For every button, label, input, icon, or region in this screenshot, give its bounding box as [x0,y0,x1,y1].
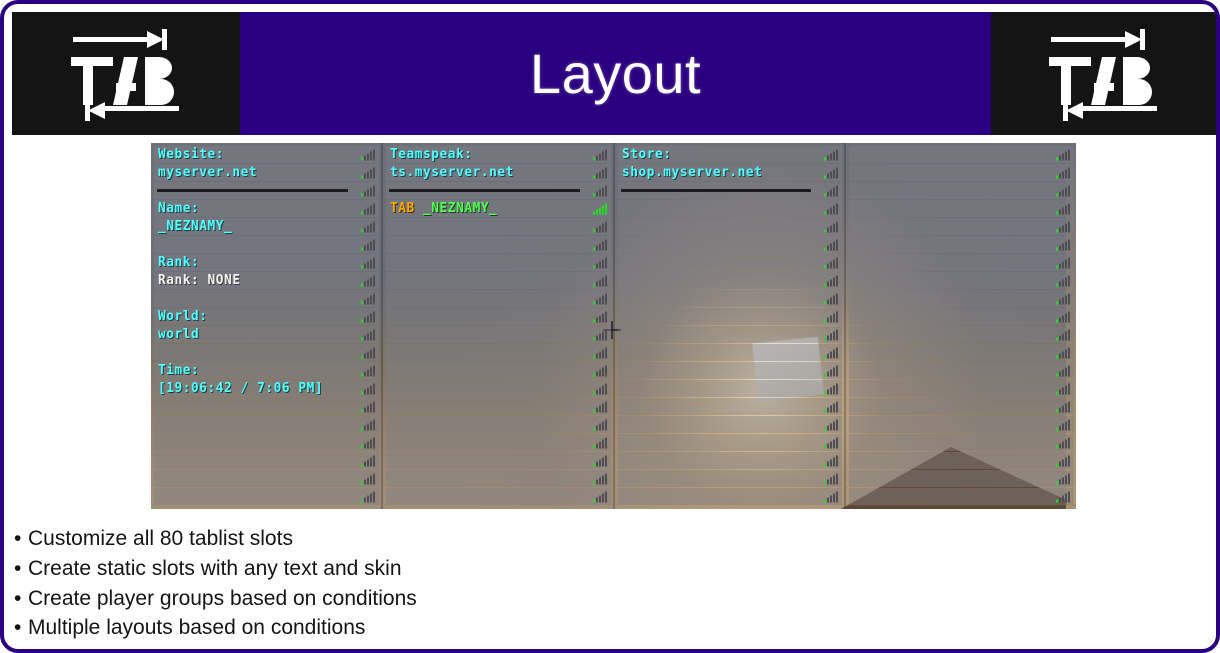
ping-bar [833,259,835,268]
tablist-empty-row [618,380,843,397]
ping-bar [1056,391,1058,394]
ping-bar [596,371,598,376]
ping-bar [596,281,598,286]
tablist-empty-row [849,236,1074,253]
ping-bar [370,493,372,502]
ping-bar [1059,407,1061,412]
ping-bar [364,263,366,268]
ping-bar [370,259,372,268]
tablist-text-part: myserver.net [158,165,257,180]
tablist-empty-row [386,380,611,397]
ping-bar [824,499,826,502]
separator-line [389,189,580,192]
ping-bar [1068,473,1070,484]
ping-bar [361,319,363,322]
ping-bars-icon [593,275,607,286]
ping-bar [836,149,838,160]
tablist-empty-row [618,416,843,433]
ping-bar [596,209,598,214]
ping-bar [1062,495,1064,502]
ping-bar [605,257,607,268]
tablist-empty-row [618,200,843,217]
ping-bar [370,241,372,250]
ping-bar [1056,409,1058,412]
ping-bars-icon [824,221,838,232]
ping-bars-icon [824,329,838,340]
ping-bar [1065,367,1067,376]
ping-bar [1068,203,1070,214]
ping-bar [836,347,838,358]
ping-bar [1065,493,1067,502]
ping-bars-icon [361,203,375,214]
ping-bar [1068,419,1070,430]
ping-bar [824,283,826,286]
tablist-column-1: Website:myserver.netName:_NEZNAMY_Rank:R… [151,143,381,509]
ping-bar [593,427,595,430]
tablist-empty-row [849,452,1074,469]
bullet-item: • Multiple layouts based on conditions [14,613,1114,643]
ping-bar [830,261,832,268]
ping-bar [830,441,832,448]
ping-bar [1056,193,1058,196]
ping-bar [1056,211,1058,214]
ping-bar [1059,299,1061,304]
ping-bar [1062,369,1064,376]
ping-bar [599,207,601,214]
ping-bar [367,225,369,232]
ping-bar [830,369,832,376]
ping-bar [833,475,835,484]
ping-bar [1065,241,1067,250]
ping-bars-icon [593,383,607,394]
ping-bars-icon [593,491,607,502]
ping-bar [1068,437,1070,448]
ping-bar [373,167,375,178]
ping-bars-icon [1056,293,1070,304]
tablist-empty-row [154,434,379,451]
tablist-row: shop.myserver.net [618,164,843,181]
ping-bar [1062,351,1064,358]
ping-bar [1068,167,1070,178]
ping-bars-icon [1056,491,1070,502]
ping-bar [367,243,369,250]
ping-bar [830,495,832,502]
ping-bar [830,315,832,322]
ping-bar [1062,225,1064,232]
tab-logo-panel-right [991,12,1216,135]
tablist-empty-row [154,416,379,433]
tablist-row: Rank: [154,254,379,271]
ping-bar [1062,297,1064,304]
ping-bar [373,239,375,250]
ping-bar [593,193,595,196]
ping-bar [824,445,826,448]
ping-bar [1068,239,1070,250]
ping-bar [602,331,604,340]
tablist-empty-row [618,326,843,343]
ping-bar [602,241,604,250]
ping-bar [1059,209,1061,214]
ping-bar [599,369,601,376]
ping-bar [361,283,363,286]
ping-bar [373,419,375,430]
ping-bar [605,347,607,358]
tablist-empty-row [618,452,843,469]
ping-bar [1068,221,1070,232]
ping-bar [1056,481,1058,484]
ping-bar [827,317,829,322]
ping-bar [602,169,604,178]
ping-bar [1062,315,1064,322]
tablist-empty-row [849,344,1074,361]
ping-bar [605,149,607,160]
ping-bar [361,337,363,340]
ping-bars-icon [361,347,375,358]
ping-bar [1062,423,1064,430]
tablist-empty-row [386,272,611,289]
bullet-marker-icon: • [14,584,28,614]
ping-bar [361,157,363,160]
ping-bar [836,383,838,394]
ping-bar [367,495,369,502]
ping-bar [364,497,366,502]
ping-bar [605,185,607,196]
ping-bar [605,383,607,394]
ping-bar [599,153,601,160]
ping-bar [361,211,363,214]
ping-bar [373,401,375,412]
tablist-row: [19:06:42 / 7:06 PM] [154,380,379,397]
tablist-column-2: Teamspeak:ts.myserver.netTAB _NEZNAMY_ [381,143,613,509]
ping-bar [824,409,826,412]
ping-bar [833,313,835,322]
ping-bars-icon [593,257,607,268]
tablist-empty-row [849,290,1074,307]
tablist-row-text: ts.myserver.net [390,166,514,179]
ping-bar [827,209,829,214]
tablist-text-part: Teamspeak: [390,147,473,162]
ping-bar [1059,227,1061,232]
tablist-empty-row [618,272,843,289]
ping-bar [361,355,363,358]
ping-bar [599,171,601,178]
ping-bar [599,351,601,358]
ping-bar [367,459,369,466]
ping-bar [599,333,601,340]
separator-line [157,189,348,192]
bullet-item: • Create player groups based on conditio… [14,584,1114,614]
ping-bar [367,369,369,376]
ping-bar [830,405,832,412]
tablist-empty-row [618,470,843,487]
ping-bar [364,371,366,376]
ping-bar [1056,499,1058,502]
ping-bar [824,373,826,376]
ping-bar [602,205,604,214]
ping-bars-icon [1056,455,1070,466]
tablist-row-text: world [158,328,199,341]
ping-bar [1059,479,1061,484]
ping-bar [833,187,835,196]
ping-bar [596,407,598,412]
ping-bar [373,383,375,394]
ping-bar [361,373,363,376]
ping-bar [367,477,369,484]
ping-bar [596,461,598,466]
ping-bar [364,191,366,196]
tablist-text-part: Rank: [158,255,199,270]
tablist-empty-row [386,362,611,379]
ping-bar [830,477,832,484]
ping-bar [830,207,832,214]
ping-bar [830,387,832,394]
ping-bars-icon [593,293,607,304]
tablist-text-part: shop.myserver.net [622,165,762,180]
ping-bar [836,275,838,286]
ping-bar [596,353,598,358]
ping-bar [599,441,601,448]
ping-bar [361,463,363,466]
ping-bar [361,445,363,448]
ping-bar [361,409,363,412]
tablist-empty-row [618,434,843,451]
ping-bars-icon [1056,167,1070,178]
ping-bars-icon [593,239,607,250]
ping-bar [1056,319,1058,322]
ping-bar [830,459,832,466]
tablist-empty-row [849,182,1074,199]
ping-bar [596,389,598,394]
ping-bar [602,475,604,484]
ping-bar [824,463,826,466]
ping-bar [827,461,829,466]
bullet-item: • Create static slots with any text and … [14,554,1114,584]
ping-bar [1068,185,1070,196]
ping-bar [824,337,826,340]
ping-bar [599,225,601,232]
ping-bar [599,423,601,430]
tablist-row: World: [154,308,379,325]
ping-bar [361,481,363,484]
tablist-row-text: Rank: [158,256,199,269]
ping-bars-icon [361,275,375,286]
ping-bars-icon [824,239,838,250]
ping-bar [599,243,601,250]
ping-bar [1065,169,1067,178]
ping-bar [373,257,375,268]
ping-bar [1056,301,1058,304]
ping-bar [596,335,598,340]
ping-bar [596,443,598,448]
ping-bars-icon [361,167,375,178]
ping-bar [1056,463,1058,466]
ping-bar [599,315,601,322]
tablist-column-3: Store:shop.myserver.net [613,143,845,509]
tablist-empty-row [386,416,611,433]
ping-bar [593,391,595,394]
ping-bar [1065,457,1067,466]
tablist-empty-row [154,398,379,415]
ping-bar [602,457,604,466]
ping-bar [1065,439,1067,448]
ping-bar [364,281,366,286]
ping-bars-icon [824,257,838,268]
ping-bars-icon [361,419,375,430]
ping-bar [361,499,363,502]
bullet-marker-icon: • [14,613,28,643]
ping-bar [1068,455,1070,466]
tablist-row-text: World: [158,310,208,323]
ping-bar [599,459,601,466]
ping-bar [596,497,598,502]
ping-bar [1065,223,1067,232]
ping-bar [1059,173,1061,178]
ping-bar [830,153,832,160]
ping-bar [596,191,598,196]
ping-bars-icon [1056,473,1070,484]
ping-bars-icon [593,347,607,358]
ping-bar [1059,461,1061,466]
ping-bar [593,211,595,214]
ping-bar [605,311,607,322]
ping-bars-icon [824,185,838,196]
ping-bar [599,297,601,304]
ping-bar [824,229,826,232]
tablist-row: ts.myserver.net [386,164,611,181]
ping-bars-icon [593,365,607,376]
tablist-empty-row [154,470,379,487]
ping-bars-icon [1056,401,1070,412]
ping-bars-icon [1056,275,1070,286]
ping-bar [593,157,595,160]
ping-bar [364,479,366,484]
ping-bar [1068,311,1070,322]
tablist-separator-row [618,182,843,199]
ping-bars-icon [593,149,607,160]
ping-bar [602,349,604,358]
ping-bar [827,443,829,448]
ping-bar [1065,349,1067,358]
ping-bar [830,243,832,250]
ping-bar [593,175,595,178]
ping-bar [602,277,604,286]
ping-bar [1068,347,1070,358]
tablist-text-part: TAB [390,201,415,216]
tablist-text-part: [19:06:42 / 7:06 PM] [158,381,323,396]
ping-bar [364,245,366,250]
ping-bar [605,365,607,376]
ping-bar [593,265,595,268]
ping-bar [367,297,369,304]
ping-bar [364,209,366,214]
ping-bar [373,275,375,286]
ping-bar [602,295,604,304]
ping-bars-icon [361,383,375,394]
tablist-text-part: ts.myserver.net [390,165,514,180]
ping-bar [836,257,838,268]
bullet-text: Customize all 80 tablist slots [28,524,293,554]
tablist-text-part: _NEZNAMY_ [415,201,498,216]
ping-bar [364,317,366,322]
ping-bar [364,353,366,358]
bullet-text: Multiple layouts based on conditions [28,613,365,643]
ping-bar [1068,383,1070,394]
ping-bar [1056,229,1058,232]
ping-bars-icon [824,293,838,304]
ping-bar [833,385,835,394]
ping-bar [370,205,372,214]
tab-logo-panel-left [12,12,240,135]
ping-bar [1056,247,1058,250]
tab-logo-icon-left [61,21,191,127]
ping-bar [373,221,375,232]
ping-bar [605,437,607,448]
ping-bars-icon [824,203,838,214]
tablist-row-text: TAB _NEZNAMY_ [390,202,497,215]
ping-bars-icon [593,185,607,196]
ping-bar [1059,371,1061,376]
ping-bar [830,423,832,430]
ping-bars-icon [824,473,838,484]
ping-bar [373,347,375,358]
ping-bar [1068,401,1070,412]
tablist-text-part: Rank: NONE [158,273,241,288]
ping-bar [373,455,375,466]
ping-bar [370,367,372,376]
tablist-row: TAB _NEZNAMY_ [386,200,611,217]
tablist-empty-row [849,362,1074,379]
tablist-empty-row [618,308,843,325]
ping-bar [1065,295,1067,304]
ping-bar [836,329,838,340]
ping-bars-icon [1056,311,1070,322]
ping-bars-icon [593,203,607,214]
ping-bar [361,427,363,430]
ping-bar [364,407,366,412]
ping-bar [830,279,832,286]
ping-bars-icon [361,473,375,484]
ping-bar [1056,175,1058,178]
ping-bar [830,189,832,196]
ping-bars-icon [1056,149,1070,160]
ping-bar [830,333,832,340]
tablist-empty-row [849,308,1074,325]
ping-bars-icon [593,167,607,178]
ping-bar [602,403,604,412]
ping-bar [605,401,607,412]
ping-bar [361,229,363,232]
ping-bar [593,337,595,340]
slide-header: Layout [12,12,1216,135]
ping-bar [602,151,604,160]
ping-bars-icon [1056,239,1070,250]
ping-bar [836,473,838,484]
tablist-empty-row [849,434,1074,451]
ping-bar [824,175,826,178]
ping-bar [1065,475,1067,484]
ping-bar [827,245,829,250]
ping-bar [1062,189,1064,196]
ping-bar [364,299,366,304]
tablist-row: Time: [154,362,379,379]
ping-bar [370,439,372,448]
ping-bar [1056,265,1058,268]
tablist-row: myserver.net [154,164,379,181]
tablist-row: Teamspeak: [386,146,611,163]
ping-bar [1056,445,1058,448]
ping-bar [599,279,601,286]
ping-bars-icon [361,329,375,340]
